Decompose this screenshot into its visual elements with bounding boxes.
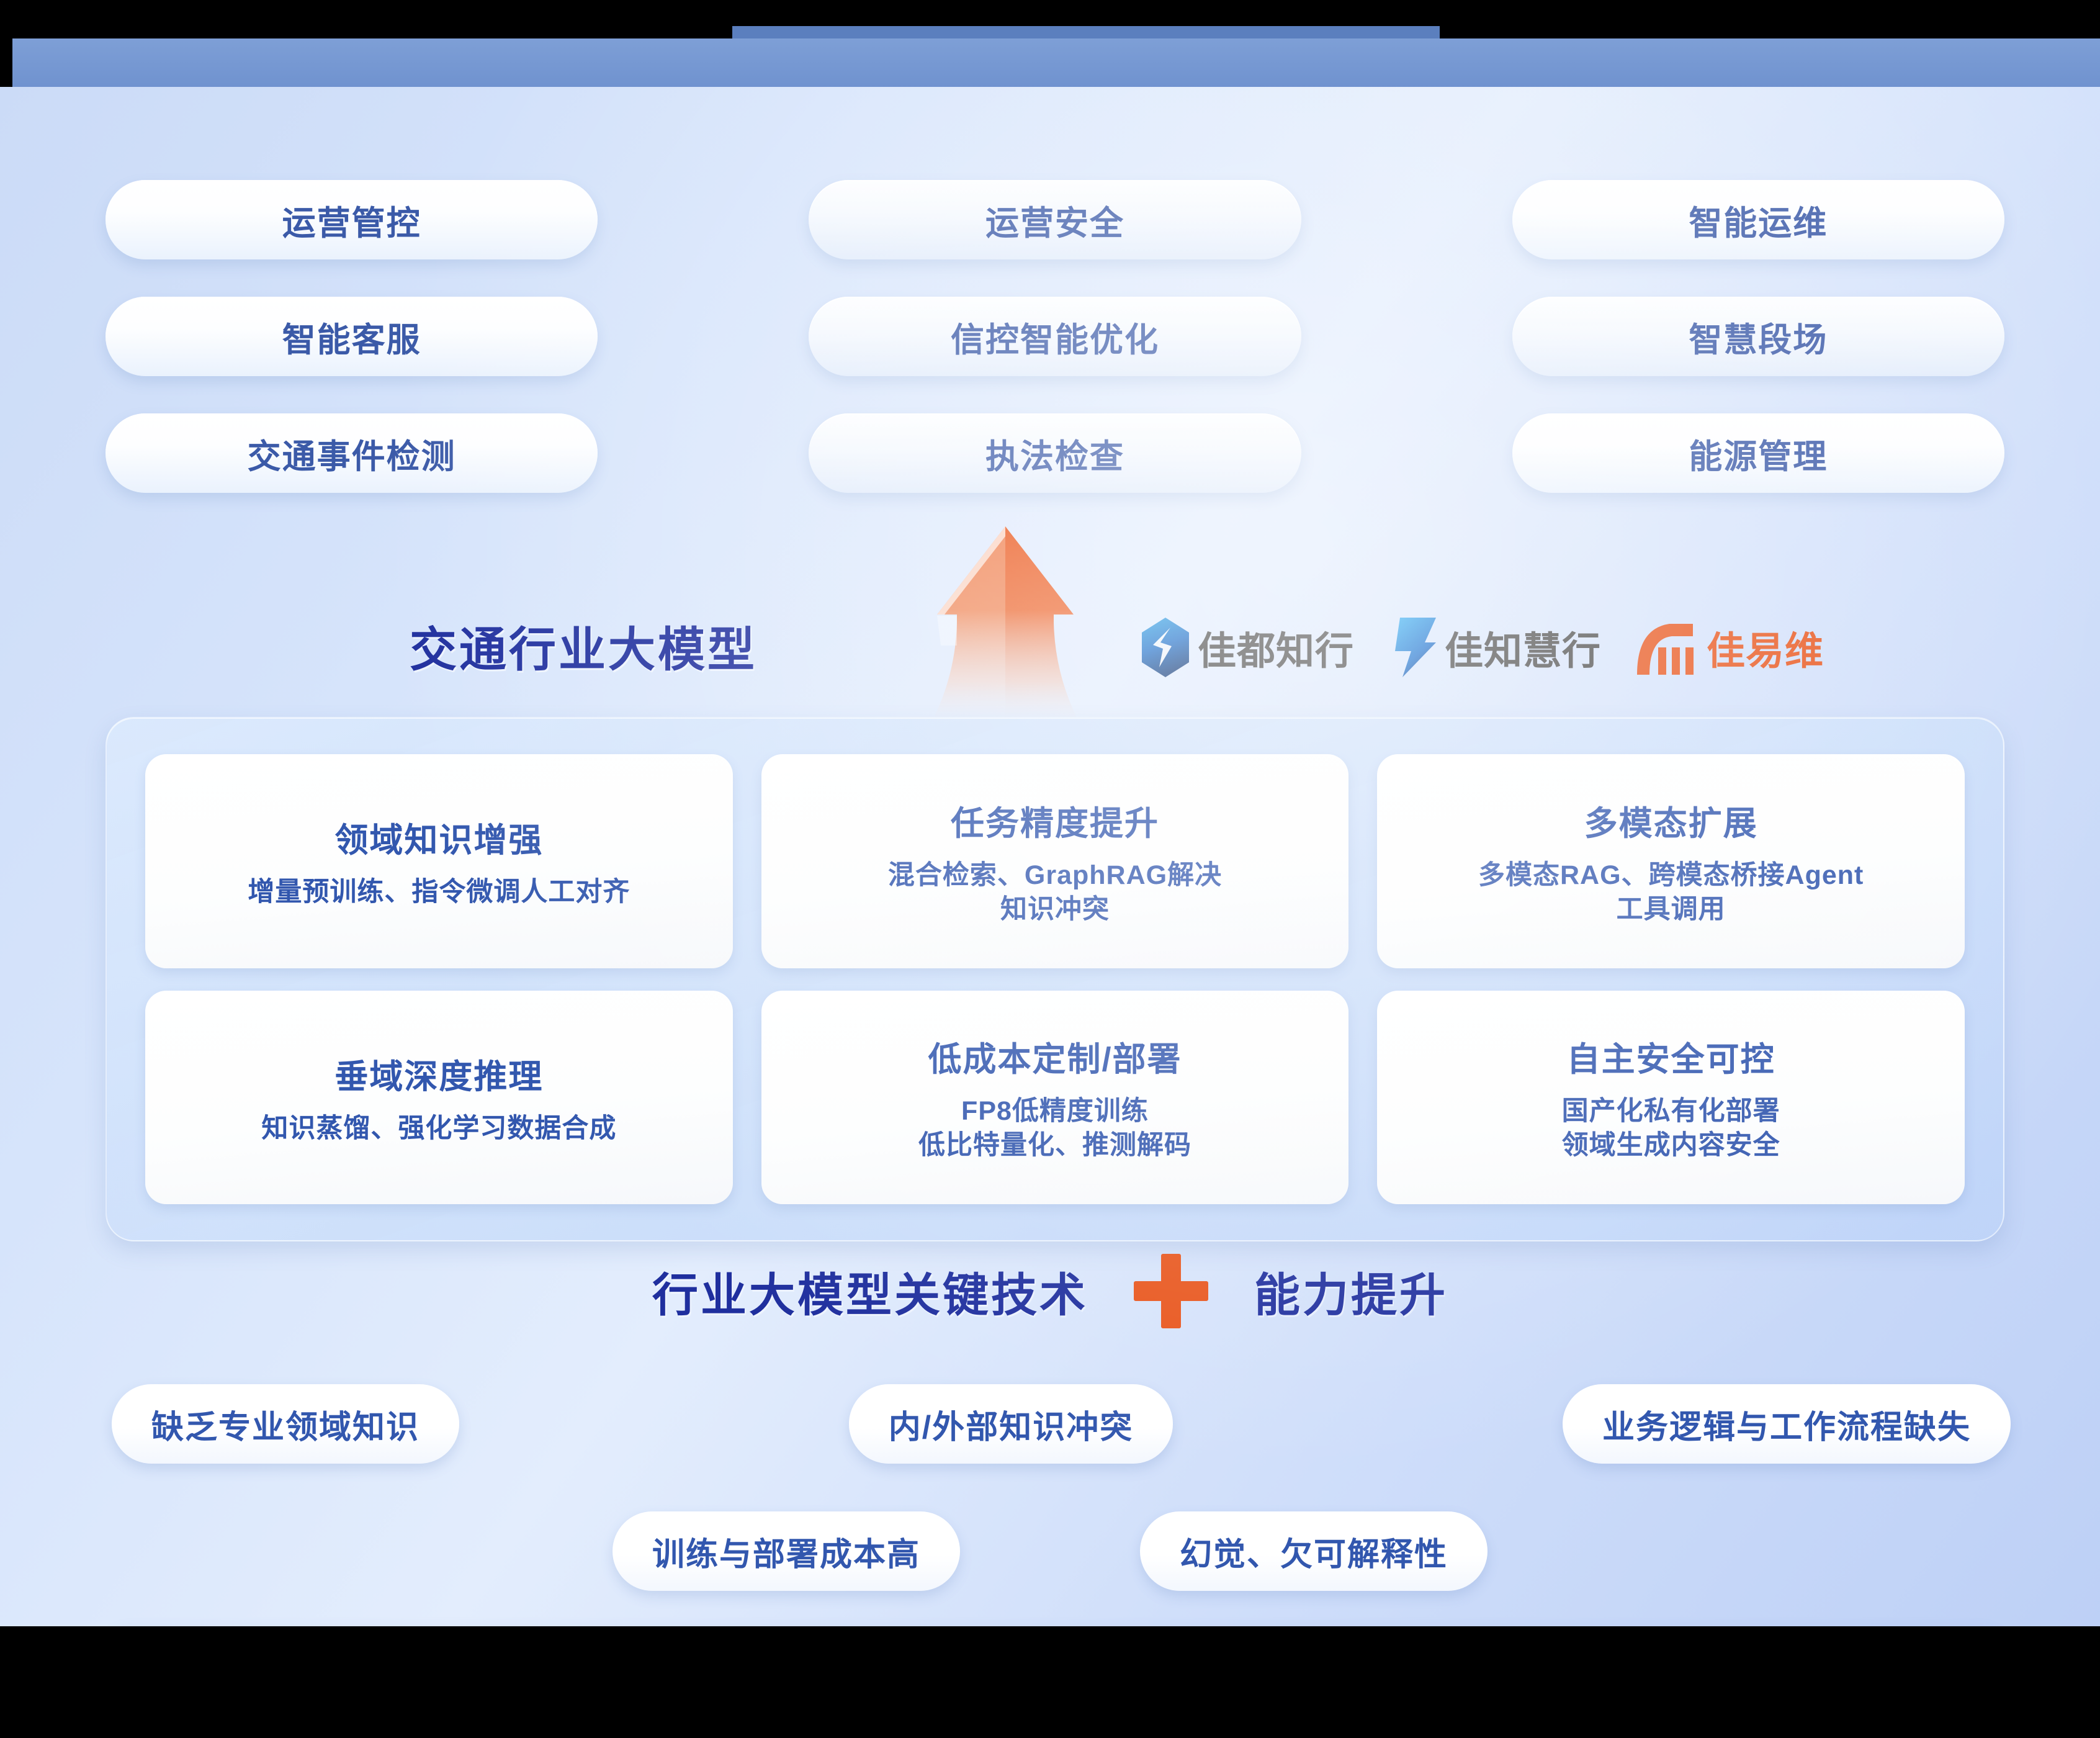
problem-pill-label: 缺乏专业领域知识 xyxy=(151,1401,420,1448)
problem-pill-label: 训练与部署成本高 xyxy=(652,1528,920,1575)
capability-uplift-caption: 能力提升 xyxy=(1254,1258,1448,1325)
application-pill-grid: 运营管控 运营安全 智能运维 智能客服 信控智能优化 智慧段场 交通事件检测 执… xyxy=(105,180,2004,493)
tech-card-title: 自主安全可控 xyxy=(1567,1032,1775,1081)
app-pill-label: 运营管控 xyxy=(282,196,421,245)
problem-pill-label: 业务逻辑与工作流程缺失 xyxy=(1602,1401,1971,1448)
tech-card-desc: FP8低精度训练低比特量化、推测解码 xyxy=(918,1094,1191,1163)
tech-card-desc: 国产化私有化部署领域生成内容安全 xyxy=(1562,1094,1780,1163)
tech-card-desc: 多模态RAG、跨模态桥接Agent工具调用 xyxy=(1478,858,1864,927)
slide-canvas: 运营管控 运营安全 智能运维 智能客服 信控智能优化 智慧段场 交通事件检测 执… xyxy=(0,87,2100,1626)
tech-card-title: 垂域深度推理 xyxy=(334,1049,543,1098)
app-pill-label: 运营安全 xyxy=(985,196,1124,245)
problem-pill-lack-domain-knowledge[interactable]: 缺乏专业领域知识 xyxy=(112,1384,459,1464)
app-pill-law-enforcement[interactable]: 执法检查 xyxy=(809,413,1301,493)
app-pill-label: 交通事件检测 xyxy=(248,429,456,478)
problem-pill-missing-workflow[interactable]: 业务逻辑与工作流程缺失 xyxy=(1563,1384,2011,1464)
tech-card-desc: 知识蒸馏、强化学习数据合成 xyxy=(261,1112,616,1146)
tech-card-title: 多模态扩展 xyxy=(1584,796,1758,845)
problem-pill-row-1: 缺乏专业领域知识 内/外部知识冲突 业务逻辑与工作流程缺失 xyxy=(112,1384,2011,1464)
lightning-logo-icon xyxy=(1386,618,1436,677)
brand-logo-label: 佳都知行 xyxy=(1198,619,1354,675)
app-pill-label: 智慧段场 xyxy=(1689,312,1828,361)
industry-model-title: 交通行业大模型 xyxy=(410,611,757,680)
app-pill-operation-safety[interactable]: 运营安全 xyxy=(809,180,1301,259)
tech-card-title: 领域知识增强 xyxy=(334,813,543,862)
app-pill-operation-control[interactable]: 运营管控 xyxy=(105,180,598,259)
key-technology-panel: 领域知识增强 增量预训练、指令微调人工对齐 任务精度提升 混合检索、GraphR… xyxy=(105,717,2004,1241)
tech-card-deep-reasoning[interactable]: 垂域深度推理 知识蒸馏、强化学习数据合成 xyxy=(145,991,733,1205)
tech-card-multimodal[interactable]: 多模态扩展 多模态RAG、跨模态桥接Agent工具调用 xyxy=(1377,754,1965,968)
brand-logo-jiazhi-huixing: 佳知慧行 xyxy=(1386,618,1601,677)
arch-logo-icon xyxy=(1633,620,1698,675)
tech-card-title: 任务精度提升 xyxy=(951,796,1159,845)
tech-card-low-cost-deploy[interactable]: 低成本定制/部署 FP8低精度训练低比特量化、推测解码 xyxy=(761,991,1349,1205)
app-pill-traffic-incident[interactable]: 交通事件检测 xyxy=(105,413,598,493)
problem-pill-high-cost[interactable]: 训练与部署成本高 xyxy=(612,1511,960,1591)
mid-caption-row: 行业大模型关键技术 能力提升 xyxy=(0,1254,2100,1328)
brand-logo-label: 佳知慧行 xyxy=(1445,619,1601,675)
tech-card-title: 低成本定制/部署 xyxy=(928,1032,1182,1081)
slide-frame: 运营管控 运营安全 智能运维 智能客服 信控智能优化 智慧段场 交通事件检测 执… xyxy=(0,0,2100,1738)
app-pill-label: 智能客服 xyxy=(282,312,421,361)
app-pill-label: 智能运维 xyxy=(1689,196,1828,245)
tech-card-desc: 增量预训练、指令微调人工对齐 xyxy=(248,875,630,909)
app-pill-energy-management[interactable]: 能源管理 xyxy=(1512,413,2004,493)
problem-pill-label: 幻觉、欠可解释性 xyxy=(1180,1528,1448,1575)
tech-card-domain-knowledge[interactable]: 领域知识增强 增量预训练、指令微调人工对齐 xyxy=(145,754,733,968)
app-pill-smart-depot[interactable]: 智慧段场 xyxy=(1512,297,2004,376)
top-blue-bar xyxy=(12,38,2100,88)
app-pill-smart-ops[interactable]: 智能运维 xyxy=(1512,180,2004,259)
app-pill-signal-optimization[interactable]: 信控智能优化 xyxy=(809,297,1301,376)
brand-logo-jiayiwei: 佳易维 xyxy=(1633,619,1824,675)
app-pill-label: 信控智能优化 xyxy=(951,312,1159,361)
tech-card-task-accuracy[interactable]: 任务精度提升 混合检索、GraphRAG解决知识冲突 xyxy=(761,754,1349,968)
problem-pill-row-2: 训练与部署成本高 幻觉、欠可解释性 xyxy=(0,1511,2100,1591)
app-pill-label: 执法检查 xyxy=(985,429,1124,478)
tech-card-desc: 混合检索、GraphRAG解决知识冲突 xyxy=(888,858,1222,927)
problem-pill-knowledge-conflict[interactable]: 内/外部知识冲突 xyxy=(849,1384,1173,1464)
problem-pill-label: 内/外部知识冲突 xyxy=(889,1401,1133,1448)
brand-logo-label: 佳易维 xyxy=(1707,619,1824,675)
diamond-logo-icon xyxy=(1142,618,1189,677)
problem-pill-hallucination[interactable]: 幻觉、欠可解释性 xyxy=(1140,1511,1487,1591)
up-arrow-icon xyxy=(912,521,1098,726)
tech-card-autonomous-security[interactable]: 自主安全可控 国产化私有化部署领域生成内容安全 xyxy=(1377,991,1965,1205)
key-technology-caption: 行业大模型关键技术 xyxy=(652,1258,1088,1325)
brand-logo-row: 佳都知行 佳知慧行 佳易维 xyxy=(1142,618,1824,677)
brand-logo-jiadu-zhixing: 佳都知行 xyxy=(1142,618,1354,677)
app-pill-smart-service[interactable]: 智能客服 xyxy=(105,297,598,376)
app-pill-label: 能源管理 xyxy=(1689,429,1828,478)
plus-icon xyxy=(1134,1254,1208,1328)
